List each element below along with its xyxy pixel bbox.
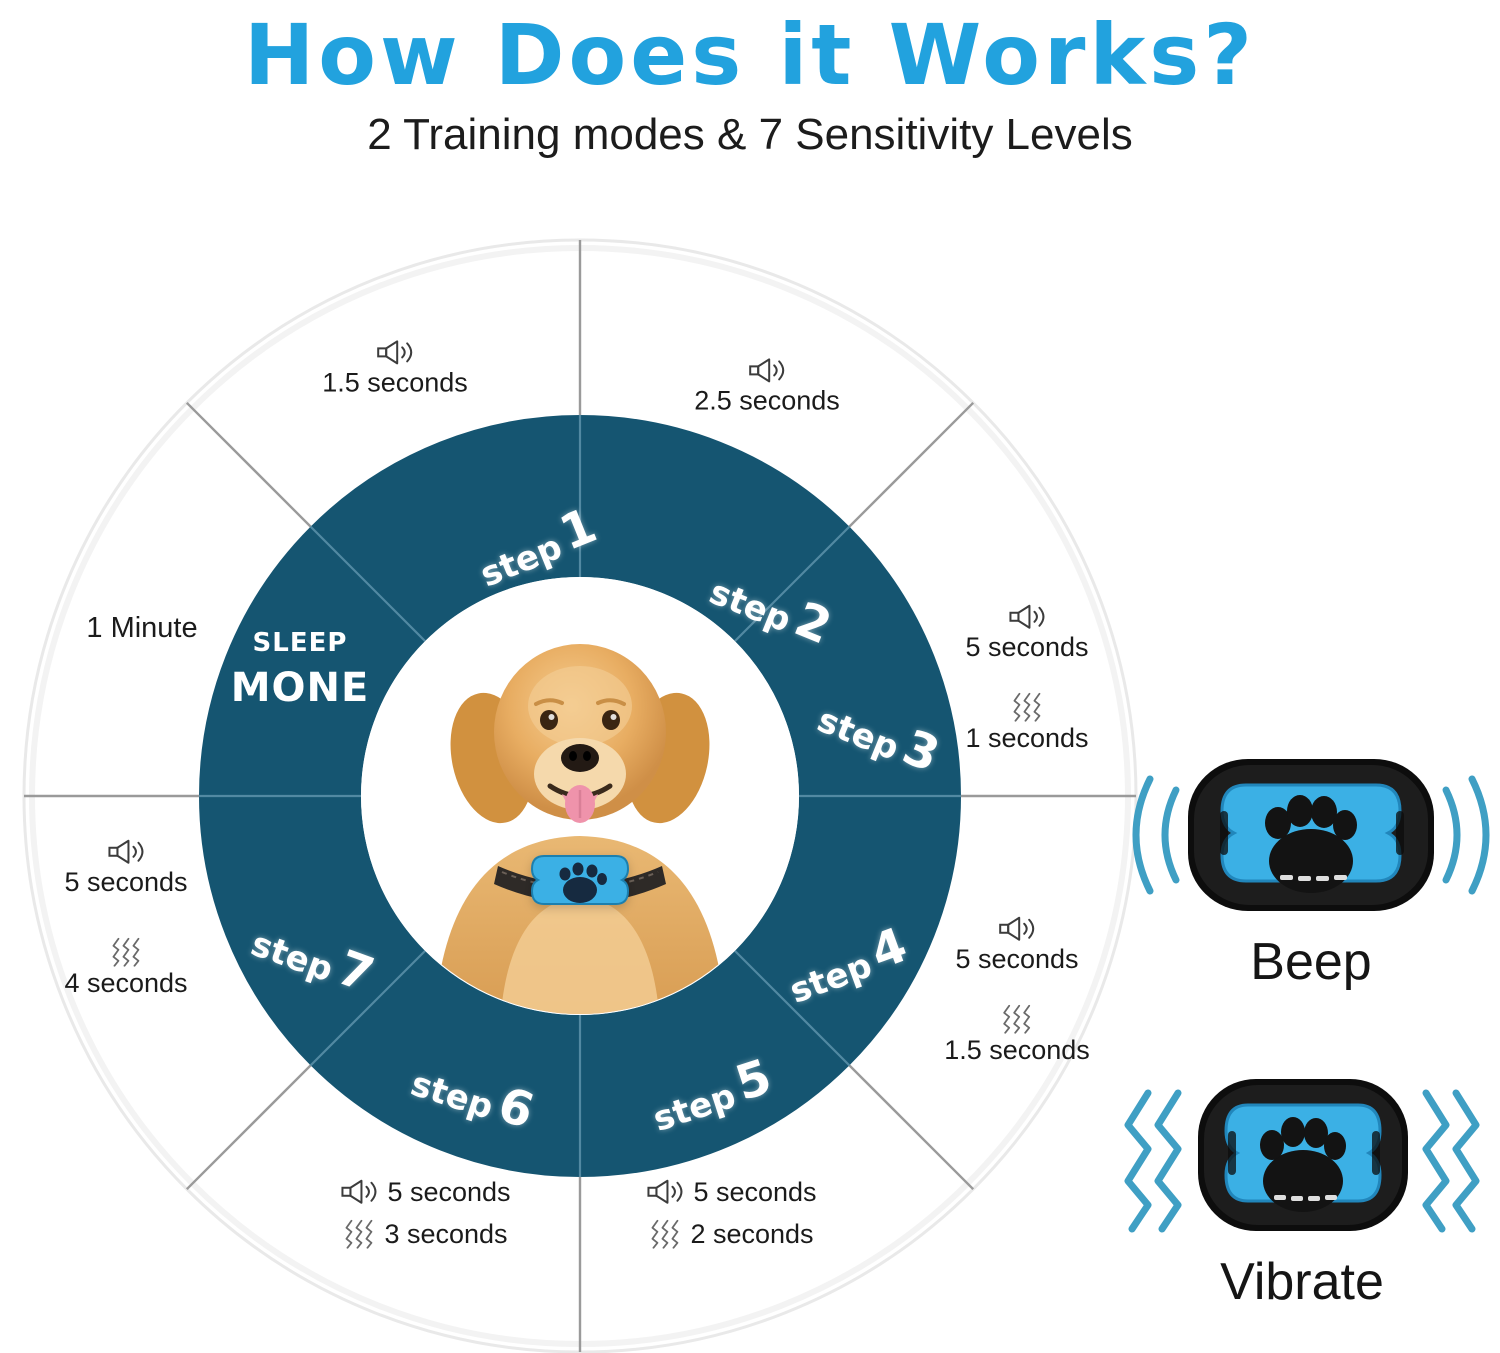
device-vibrate-block: Vibrate — [1112, 1065, 1492, 1312]
outer-label-sleep-duration: 1 Minute — [86, 612, 197, 644]
training-wheel-diagram: step1 step2 step3 step4 step5 step6 step… — [22, 238, 1138, 1353]
page-title: How Does it Works? — [0, 6, 1500, 104]
page-subtitle: 2 Training modes & 7 Sensitivity Levels — [0, 110, 1500, 160]
vibrate-icon — [342, 1219, 376, 1249]
beep-icon — [339, 1178, 379, 1206]
vibration-wave-right-icon — [1426, 1093, 1476, 1229]
device-beep-block: Beep — [1128, 745, 1494, 992]
beep-icon — [645, 1178, 685, 1206]
beep-icon — [375, 338, 415, 366]
outer-label-step-4-vibrate-text: 1.5 seconds — [944, 1035, 1090, 1065]
outer-label-step-6: 5 seconds 3 seconds — [339, 1177, 510, 1249]
outer-label-step-4-beep-text: 5 seconds — [955, 944, 1078, 974]
vibration-wave-left-icon — [1128, 1093, 1178, 1229]
collar-device-on-dog — [532, 856, 628, 904]
outer-label-step-4: 5 seconds 1.5 seconds — [944, 915, 1090, 1065]
outer-label-step-1: 1.5 seconds — [322, 338, 468, 397]
ring-sleep-sector: SLEEP MONE — [231, 629, 370, 711]
beep-icon — [1007, 603, 1047, 631]
beep-icon — [747, 356, 787, 384]
sound-wave-right-icon — [1446, 779, 1486, 891]
device-vibrate-caption: Vibrate — [1112, 1252, 1492, 1312]
collar-device-body — [1188, 759, 1434, 911]
vibrate-icon — [648, 1219, 682, 1249]
outer-label-step-5-vibrate-text: 2 seconds — [690, 1219, 813, 1249]
vibrate-icon — [1010, 692, 1044, 722]
wheel-svg — [22, 238, 1138, 1353]
outer-label-step-3: 5 seconds 1 seconds — [965, 603, 1088, 753]
device-beep-illustration — [1128, 745, 1494, 925]
outer-label-step-3-beep-text: 5 seconds — [965, 632, 1088, 662]
device-beep-caption: Beep — [1128, 932, 1494, 992]
collar-device-body — [1198, 1079, 1408, 1231]
outer-label-step-3-vibrate-text: 1 seconds — [965, 723, 1088, 753]
outer-label-step-2: 2.5 seconds — [694, 356, 840, 415]
outer-label-step-5-beep-text: 5 seconds — [693, 1177, 816, 1207]
outer-label-step-6-vibrate-text: 3 seconds — [384, 1219, 507, 1249]
outer-label-step-7-beep-text: 5 seconds — [64, 867, 187, 897]
infographic-root: How Does it Works? 2 Training modes & 7 … — [0, 0, 1500, 1353]
outer-label-step-7: 5 seconds 4 seconds — [64, 838, 187, 998]
outer-label-step-2-text: 2.5 seconds — [694, 385, 840, 415]
outer-label-step-5: 5 seconds 2 seconds — [645, 1177, 816, 1249]
outer-label-step-6-beep-text: 5 seconds — [387, 1177, 510, 1207]
sound-wave-left-icon — [1136, 779, 1176, 891]
outer-label-step-1-text: 1.5 seconds — [322, 367, 468, 397]
vibrate-icon — [109, 937, 143, 967]
outer-label-step-7-vibrate-text: 4 seconds — [64, 968, 187, 998]
vibrate-icon — [1000, 1004, 1034, 1034]
device-vibrate-illustration — [1112, 1065, 1492, 1245]
beep-icon — [997, 915, 1037, 943]
beep-icon — [106, 838, 146, 866]
